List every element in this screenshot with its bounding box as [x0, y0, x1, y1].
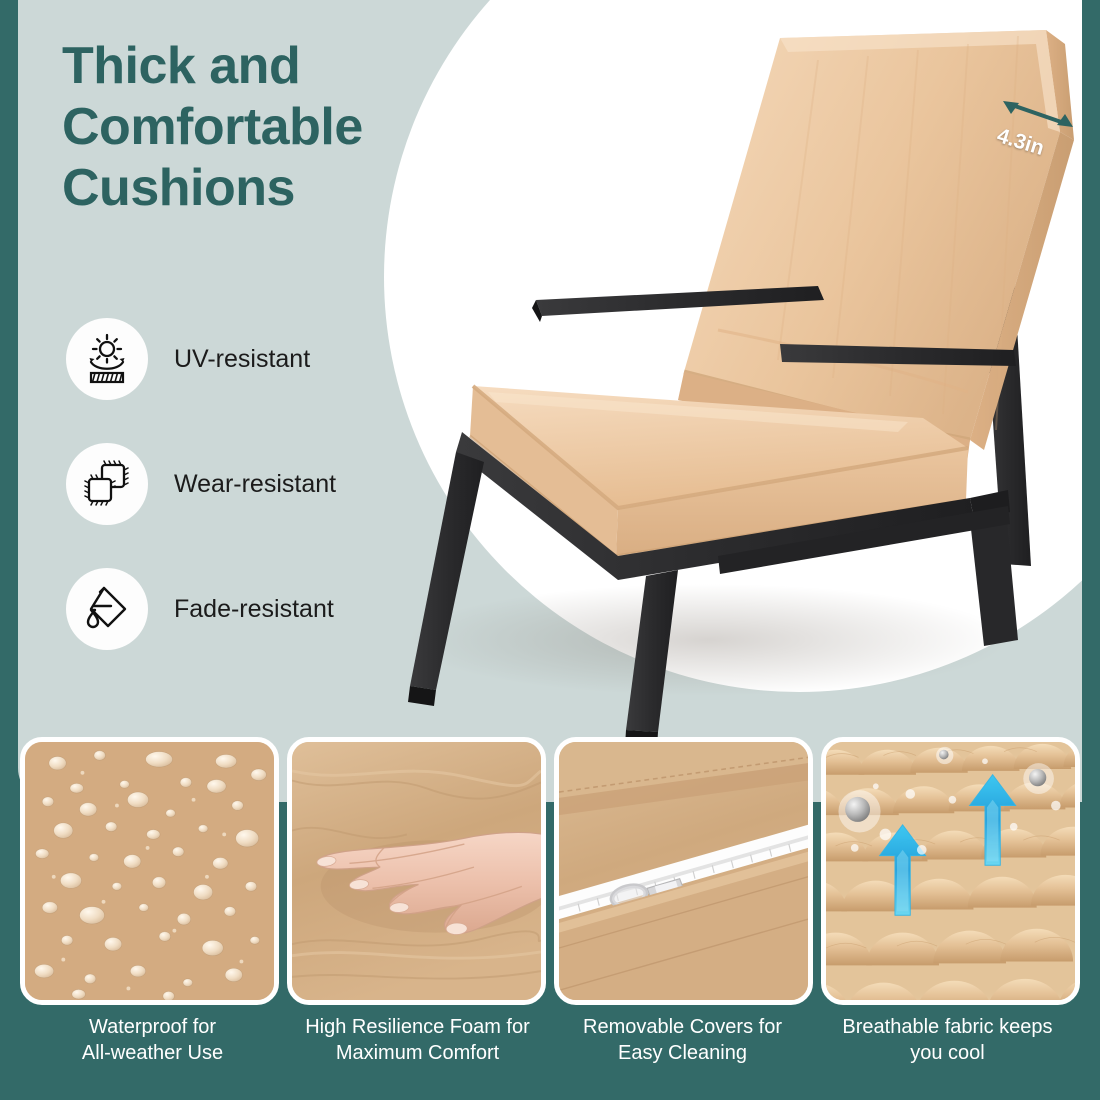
thumbnail-high-resilience-foam[interactable]: [287, 737, 546, 1005]
feature-badge: [66, 443, 148, 525]
caption-line-1: Removable Covers for: [556, 1014, 809, 1040]
headline-line-3: Cushions: [62, 158, 492, 219]
uv-sun-icon: [80, 332, 134, 386]
feature-badge: [66, 568, 148, 650]
caption-line-2: Easy Cleaning: [556, 1040, 809, 1066]
caption-waterproof: Waterproof for All-weather Use: [20, 1014, 285, 1084]
dimension-callout: 4.3in: [993, 96, 1082, 160]
caption-zipper: Removable Covers for Easy Cleaning: [550, 1014, 815, 1084]
hero-panel: Thick and Comfortable Cushions: [18, 0, 1082, 802]
thumbnail-removable-covers[interactable]: [554, 737, 813, 1005]
product-feature-poster: Thick and Comfortable Cushions: [0, 0, 1100, 1100]
thumbnail-breathable-fabric[interactable]: [821, 737, 1080, 1005]
headline-line-1: Thick and: [62, 36, 492, 97]
feature-list: UV-resistant: [66, 318, 466, 693]
page-title: Thick and Comfortable Cushions: [62, 36, 492, 218]
feature-label: UV-resistant: [174, 345, 310, 374]
fabric-swatch-icon: [80, 457, 134, 511]
caption-line-2: All-weather Use: [26, 1040, 279, 1066]
caption-line-1: High Resilience Foam for: [291, 1014, 544, 1040]
caption-line-2: Maximum Comfort: [291, 1040, 544, 1066]
fabric-strip: [91, 373, 123, 382]
caption-foam: High Resilience Foam for Maximum Comfort: [285, 1014, 550, 1084]
feature-item-uv-resistant: UV-resistant: [66, 318, 466, 400]
paint-bucket-icon: [80, 582, 134, 636]
headline-line-2: Comfortable: [62, 97, 492, 158]
white-zipper-closeup-photo: [559, 742, 808, 1000]
feature-thumbnail-row: [0, 737, 1100, 1005]
caption-line-2: you cool: [821, 1040, 1074, 1066]
caption-breathable: Breathable fabric keeps you cool: [815, 1014, 1080, 1084]
water-droplets-on-fabric-photo: [25, 742, 274, 1000]
fabric-weave-airflow-photo: [826, 742, 1075, 1000]
caption-line-1: Breathable fabric keeps: [821, 1014, 1074, 1040]
caption-line-1: Waterproof for: [26, 1014, 279, 1040]
feature-item-wear-resistant: Wear-resistant: [66, 443, 466, 525]
feature-badge: [66, 318, 148, 400]
hand-pressing-cushion-photo: [292, 742, 541, 1000]
caption-row: Waterproof for All-weather Use High Resi…: [0, 1014, 1100, 1084]
feature-label: Fade-resistant: [174, 595, 334, 624]
thumbnail-waterproof[interactable]: [20, 737, 279, 1005]
feature-label: Wear-resistant: [174, 470, 336, 499]
feature-item-fade-resistant: Fade-resistant: [66, 568, 466, 650]
